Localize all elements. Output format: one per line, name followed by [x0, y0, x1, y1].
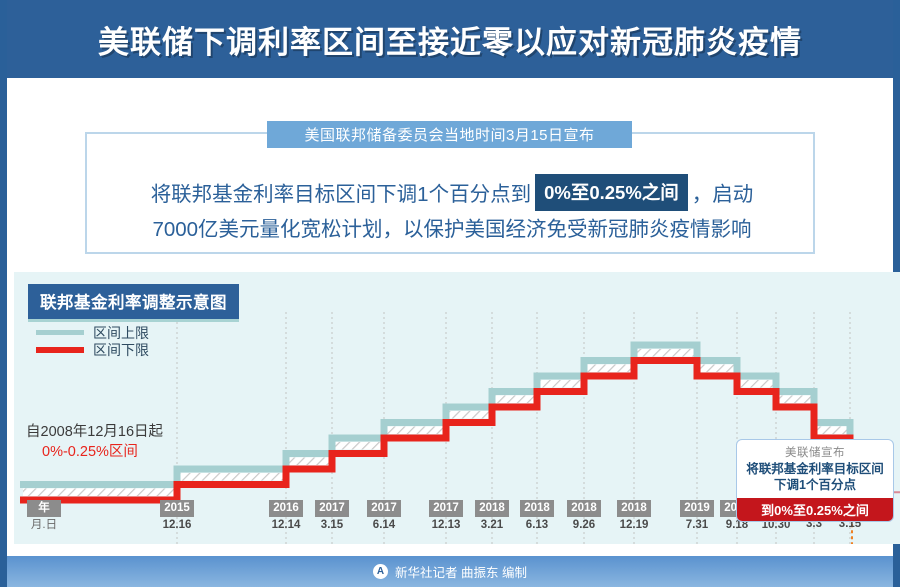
callout-body-line-1: 将联邦基金利率目标区间: [737, 461, 893, 477]
rate-band-fill: [23, 489, 174, 497]
legend-swatch-lower-icon: [36, 347, 84, 353]
axis-year-chip: 2016: [269, 500, 303, 517]
rate-band-fill: [540, 380, 581, 388]
rate-band-fill: [289, 458, 329, 466]
axis-year-chip: 年: [27, 500, 61, 517]
axis-date-label: 12.14: [263, 518, 309, 533]
callout-title: 美联储宣布: [737, 444, 893, 460]
start-note: 自2008年12月16日起 0%-0.25%区间: [26, 422, 163, 462]
chart-title: 联邦基金利率调整示意图: [28, 284, 239, 322]
rate-band-fill: [779, 396, 811, 404]
axis-tick-label: 201612.14: [263, 500, 309, 533]
header-banner: 美联储下调利率区间至接近零以应对新冠肺炎疫情: [7, 0, 893, 78]
rate-band-fill: [335, 442, 381, 450]
announcement-line1-pre: 将联邦基金利率目标区间下调1个百分点到: [151, 183, 531, 206]
axis-date-label: 9.26: [561, 518, 607, 533]
axis-date-label: 12.19: [611, 518, 657, 533]
axis-year-chip: 2017: [429, 500, 463, 517]
start-note-line-1: 自2008年12月16日起: [26, 422, 163, 442]
axis-year-chip: 2018: [475, 500, 509, 517]
rate-band-fill: [740, 380, 773, 388]
axis-year-chip: 2015: [160, 500, 194, 517]
footer-credit: 新华社记者 曲振东 编制: [395, 562, 527, 581]
axis-tick-label: 201512.16: [154, 500, 200, 533]
axis-date-label: 3.15: [309, 518, 355, 533]
axis-tick-label: 20176.14: [361, 500, 407, 533]
fed-announcement-callout: 美联储宣布 将联邦基金利率目标区间 下调1个百分点 到0%至0.25%之间: [736, 439, 894, 522]
callout-body-line-2: 下调1个百分点: [737, 477, 893, 493]
axis-header-label: 年月.日: [21, 500, 67, 533]
callout-body: 将联邦基金利率目标区间 下调1个百分点: [737, 461, 893, 493]
rate-band-fill: [700, 365, 734, 373]
callout-strip: 到0%至0.25%之间: [737, 498, 893, 521]
start-note-line-2: 0%-0.25%区间: [26, 442, 163, 462]
announcement-line1-post: ，启动: [692, 183, 754, 206]
axis-year-chip: 2017: [315, 500, 349, 517]
legend-item-upper: 区间上限: [36, 324, 149, 341]
chart-legend: 区间上限 区间下限: [36, 324, 149, 358]
axis-date-label: 12.13: [423, 518, 469, 533]
axis-tick-label: 20189.26: [561, 500, 607, 533]
legend-item-lower: 区间下限: [36, 341, 149, 358]
axis-tick-label: 201812.19: [611, 500, 657, 533]
legend-swatch-upper-icon: [36, 330, 84, 335]
axis-date-label: 3.21: [469, 518, 515, 533]
rate-band-fill: [587, 365, 631, 373]
axis-year-chip: 2018: [617, 500, 651, 517]
announcement-block: 将联邦基金利率目标区间下调1个百分点到0%至0.25%之间，启动 7000亿美元…: [85, 121, 815, 254]
rate-band-fill: [449, 411, 489, 419]
announcement-box: 将联邦基金利率目标区间下调1个百分点到0%至0.25%之间，启动 7000亿美元…: [85, 132, 815, 254]
legend-label-lower: 区间下限: [93, 340, 149, 360]
axis-tick-label: 20186.13: [514, 500, 560, 533]
rate-band-fill: [180, 473, 283, 481]
axis-year-chip: 2017: [367, 500, 401, 517]
axis-date-label: 6.13: [514, 518, 560, 533]
announcement-line-2: 7000亿美元量化宽松计划，以保护美国经济免受新冠肺炎疫情影响: [87, 212, 817, 247]
axis-tick-label: 201712.13: [423, 500, 469, 533]
announcement-line-1: 将联邦基金利率目标区间下调1个百分点到0%至0.25%之间，启动: [87, 174, 817, 212]
rate-band-fill: [637, 349, 694, 357]
axis-date-label: 6.14: [361, 518, 407, 533]
axis-year-chip: 2019: [680, 500, 714, 517]
rate-band-fill: [387, 427, 443, 435]
rate-band-fill: [495, 396, 534, 404]
announcement-tab: 美国联邦储备委员会当地时间3月15日宣布: [267, 121, 632, 148]
xinhua-logo-icon: A: [373, 564, 388, 579]
page-title: 美联储下调利率区间至接近零以应对新冠肺炎疫情: [98, 17, 802, 62]
rate-band-fill: [817, 427, 847, 435]
axis-year-chip: 2018: [520, 500, 554, 517]
axis-year-chip: 2018: [567, 500, 601, 517]
axis-date-label: 12.16: [154, 518, 200, 533]
axis-tick-label: 20173.15: [309, 500, 355, 533]
axis-date-label: 月.日: [21, 518, 67, 533]
announcement-highlight-chip: 0%至0.25%之间: [535, 174, 688, 211]
infographic-poster: 美联储下调利率区间至接近零以应对新冠肺炎疫情 将联邦基金利率目标区间下调1个百分…: [0, 0, 900, 587]
announcement-text: 将联邦基金利率目标区间下调1个百分点到0%至0.25%之间，启动 7000亿美元…: [87, 174, 817, 247]
axis-tick-label: 20183.21: [469, 500, 515, 533]
footer-bar: A 新华社记者 曲振东 编制: [7, 556, 893, 587]
